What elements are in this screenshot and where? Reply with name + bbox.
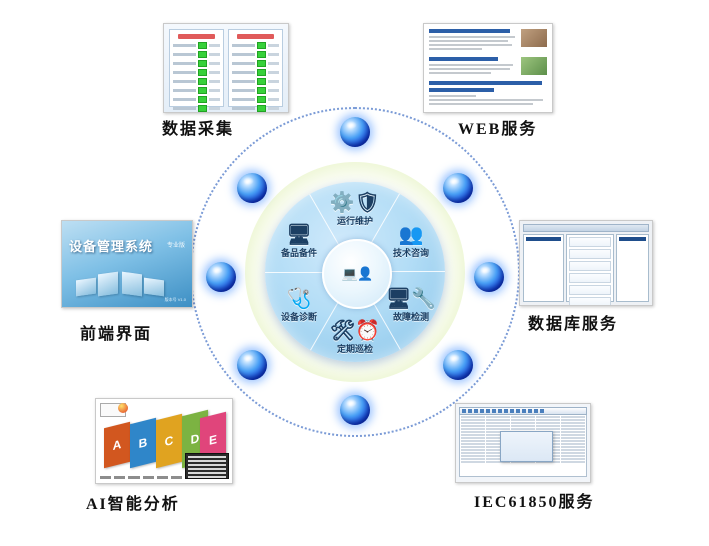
table-row [173,78,220,85]
article-item [429,57,547,76]
article-thumbnail [521,29,547,47]
table-row [232,87,279,94]
group-box [569,237,611,247]
gear-shield-check-icon: ⚙️🛡 [322,190,388,216]
list-panel [616,234,650,302]
orbit-node-w[interactable] [206,262,236,292]
wheel-segment-periodic-inspection[interactable]: 🛠⏰ 定期巡检 [322,318,388,355]
table-row [232,42,279,49]
ai-block-c: C [156,414,182,468]
table-row [173,42,220,49]
splash-graphic [144,278,164,297]
grid-app-dialog-mock [456,404,590,482]
group-box [569,261,611,271]
splash-title: 设备管理系统 [69,236,153,255]
orbit-node-s[interactable] [340,395,370,425]
splash-graphic [76,278,96,297]
pane-title-bar [237,34,274,39]
grid-row [461,428,585,430]
grid-row [461,425,585,427]
wheel-segment-label: 备品备件 [281,248,317,258]
orbit-node-n[interactable] [340,117,370,147]
table-row [232,69,279,76]
wheel-segment-label: 故障检测 [393,312,429,322]
wheel-segment-label: 技术咨询 [393,248,429,258]
wheel-segment-tech-consulting[interactable]: 👥 技术咨询 [378,222,444,259]
ai-block-b: B [130,418,156,468]
grid-row [461,416,585,418]
legend-indicator-icon [118,403,128,413]
modal-dialog [500,431,552,462]
software-splash-mock: 设备管理系统 专业版 版本号 V1.0 [62,221,192,307]
thumbnail-frontend-ui[interactable]: 设备管理系统 专业版 版本号 V1.0 [61,220,193,308]
orbit-node-ne[interactable] [443,173,473,203]
data-grid [459,415,587,477]
table-row [173,69,220,76]
caption-frontend-ui: 前端界面 [80,320,152,344]
article-item [429,81,547,107]
caption-iec61850-service: IEC61850服务 [474,488,594,512]
table-row [232,60,279,67]
table-row [173,51,220,58]
pane-title-bar [178,34,215,39]
ai-block-a: A [104,422,130,468]
article-thumbnail [521,57,547,75]
laptop-person-icon: 💻👤 [342,266,372,282]
monitor-stack-icon: 🖥 [266,222,332,248]
wheel-segment-spare-parts[interactable]: 🖥 备品备件 [266,222,332,259]
tree-panel [523,234,564,302]
splash-footer: 版本号 V1.0 [165,297,186,303]
table-row [232,51,279,58]
thumbnail-iec61850-service[interactable] [455,403,591,483]
architecture-diagram-canvas: ⚙️🛡 运行维护 👥 技术咨询 🖥🔧 故障检测 🛠⏰ 定期巡检 🩺 设备诊断 🖥… [0,0,709,546]
group-box [569,273,611,283]
grid-row [461,422,585,424]
table-row [232,105,279,112]
table-row [173,105,220,112]
orbit-node-sw[interactable] [237,350,267,380]
group-box [569,297,611,306]
ai-3d-blocks-mock: A B C D E [96,399,232,483]
wheel-segment-label: 设备诊断 [281,312,317,322]
group-box [569,249,611,259]
grid-row [461,419,585,421]
splash-graphic [122,272,142,297]
splash-subtitle: 专业版 [167,240,185,249]
web-article-list-mock [424,24,552,112]
table-row [232,96,279,103]
app-toolbar [459,407,587,415]
thumbnail-ai-analysis[interactable]: A B C D E [95,398,233,484]
thumbnail-data-acquisition[interactable] [163,23,289,113]
table-row [173,96,220,103]
db-manager-window-mock [520,221,652,305]
wheel-segment-label: 运行维护 [337,216,373,226]
dashboard-tables-mock [164,24,288,112]
table-row [232,78,279,85]
support-agents-icon: 👥 [378,222,444,248]
orbit-node-e[interactable] [474,262,504,292]
dashboard-pane [228,29,283,107]
axis-labels [100,476,182,480]
caption-ai-analysis: AI智能分析 [86,490,180,514]
dashboard-pane [169,29,224,107]
stethoscope-doctor-icon: 🩺 [266,286,332,312]
wheel-segment-device-diagnosis[interactable]: 🩺 设备诊断 [266,286,332,323]
wheel-segment-label: 定期巡检 [337,344,373,354]
article-item [429,29,547,52]
table-row [173,60,220,67]
inset-table [185,453,229,479]
caption-web-service: WEB服务 [458,115,537,139]
orbit-node-nw[interactable] [237,173,267,203]
form-panel [566,234,614,302]
wheel-hub[interactable]: 💻👤 [322,239,392,309]
window-toolbar [523,224,649,232]
orbit-node-se[interactable] [443,350,473,380]
group-box [569,285,611,295]
thumbnail-database-service[interactable] [519,220,653,306]
caption-database-service: 数据库服务 [528,310,618,334]
splash-graphic [98,272,118,297]
thumbnail-web-service[interactable] [423,23,553,113]
caption-data-acquisition: 数据采集 [162,115,234,139]
table-row [173,87,220,94]
